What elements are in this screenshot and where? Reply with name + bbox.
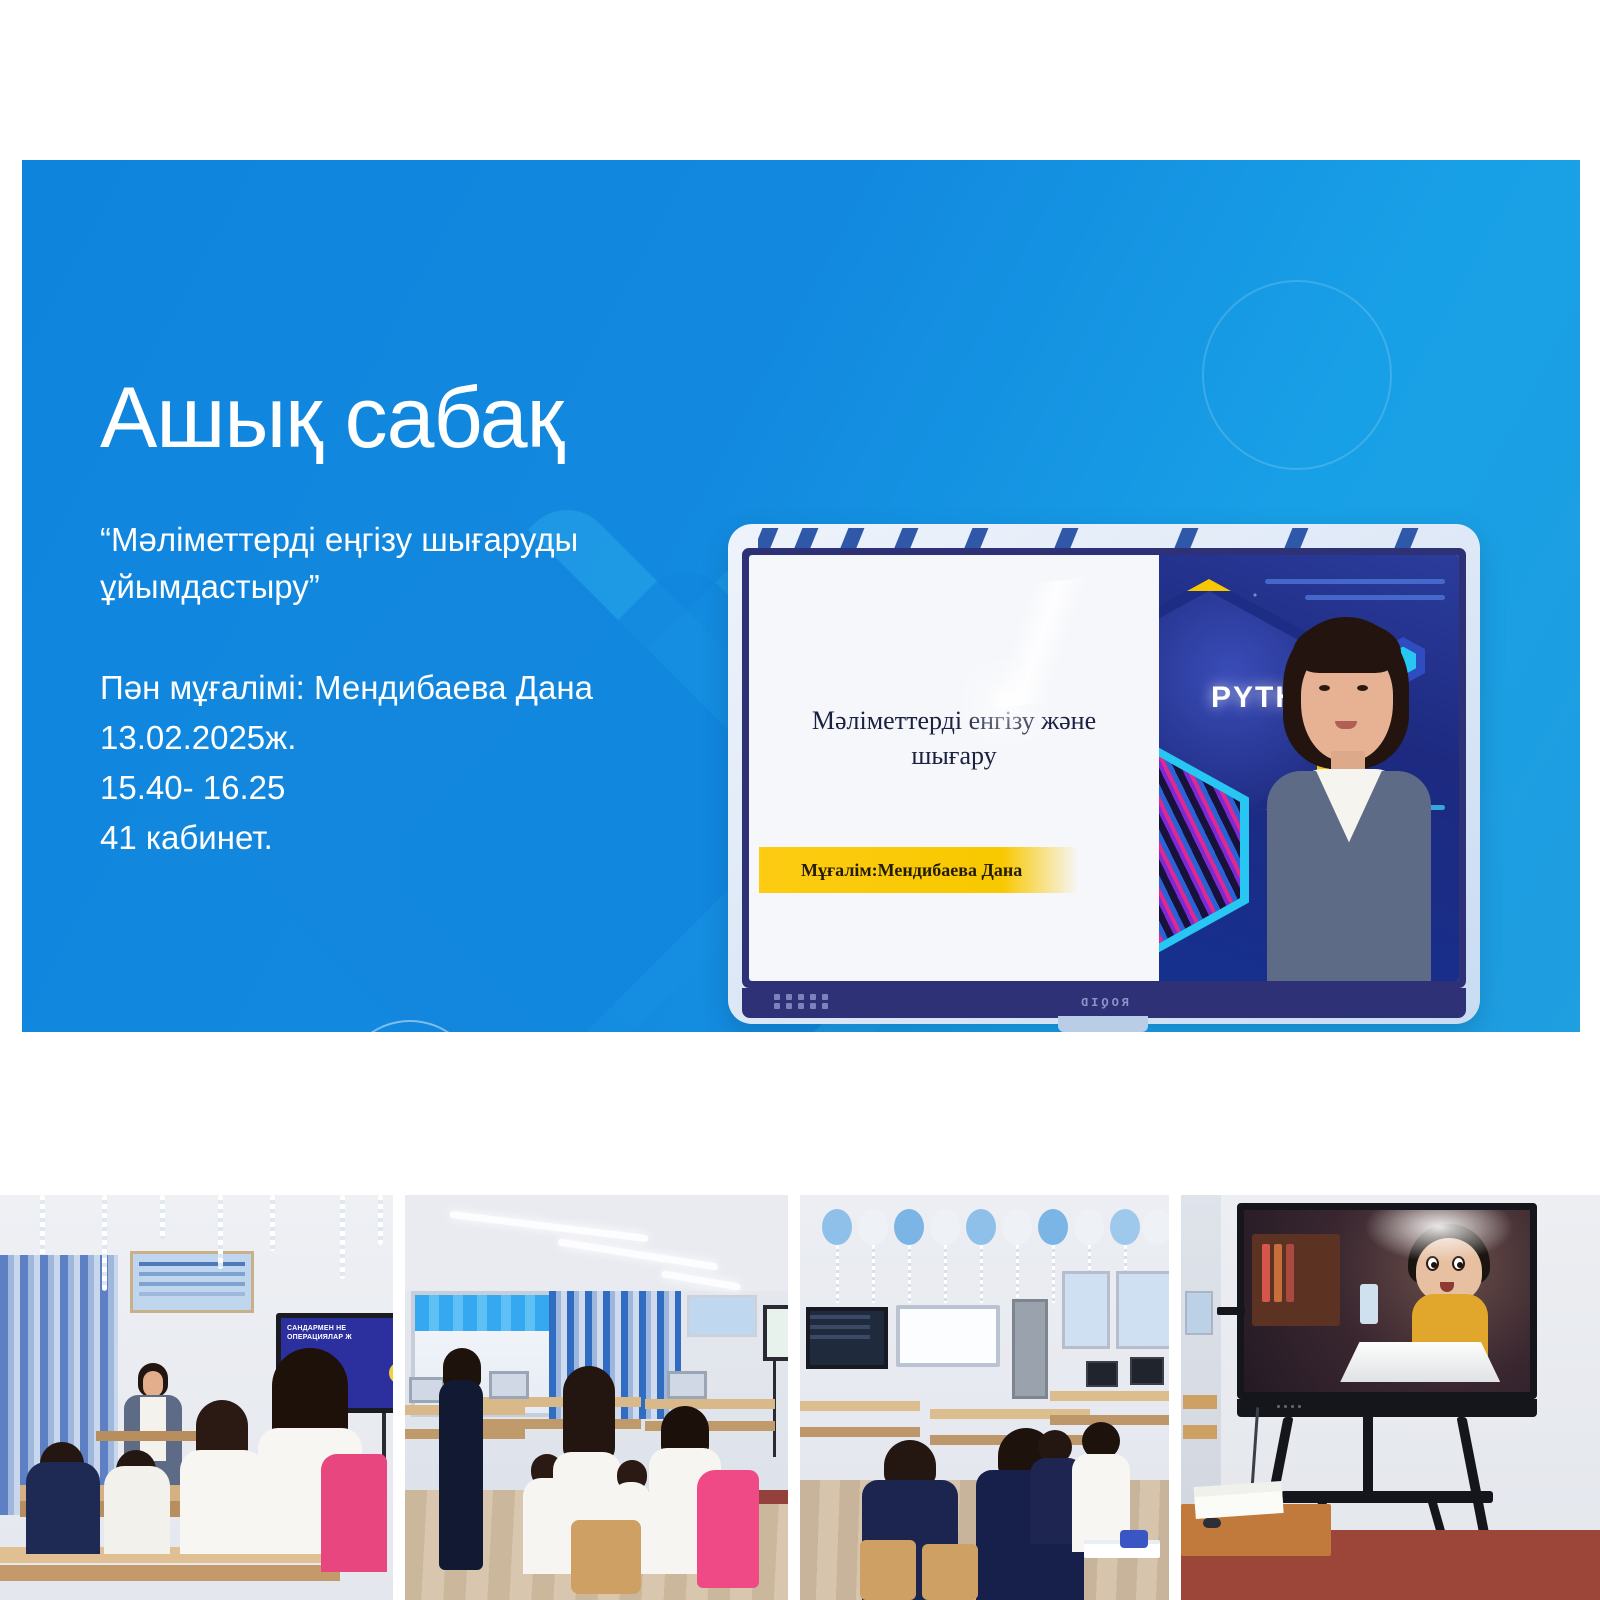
- stripe-decor: [1305, 595, 1445, 600]
- classroom-screen: [763, 1305, 788, 1361]
- wall-poster: [687, 1295, 757, 1337]
- balloon: [1002, 1209, 1032, 1245]
- screen-stand: [773, 1361, 788, 1457]
- lesson-date: 13.02.2025ж.: [100, 713, 700, 763]
- mount-arm: [1217, 1307, 1245, 1315]
- open-book: [1340, 1342, 1500, 1382]
- balloon: [1110, 1209, 1140, 1245]
- screen-content-lines: [810, 1315, 870, 1319]
- teacher-portrait: [1243, 609, 1453, 981]
- student-desk: [1050, 1391, 1169, 1401]
- screen-heading: САНДАРМЕН НЕ ОПЕРАЦИЯЛАР Ж: [287, 1324, 393, 1343]
- book: [1274, 1244, 1282, 1302]
- pink-hoodie: [697, 1470, 759, 1588]
- stand-column: [1363, 1417, 1373, 1491]
- candle: [1360, 1284, 1378, 1324]
- lesson-room: 41 кабинет.: [100, 813, 700, 863]
- computer-monitor: [667, 1371, 707, 1399]
- ceiling-decor-icon: [270, 1195, 275, 1251]
- monitor-top-stripes: [758, 528, 1448, 548]
- monitor-stand: [1058, 1016, 1148, 1032]
- chair: [922, 1544, 978, 1600]
- ceiling: [405, 1195, 788, 1291]
- teacher-line: Пән мұғалімі: Мендибаева Дана: [100, 663, 700, 713]
- ceiling-decor-icon: [378, 1195, 383, 1245]
- student-head: [563, 1366, 615, 1464]
- lesson-meta: Пән мұғалімі: Мендибаева Дана 13.02.2025…: [100, 663, 700, 864]
- student-desk: [930, 1409, 1090, 1419]
- ceiling-decor-icon: [218, 1195, 223, 1269]
- balloon: [822, 1209, 852, 1245]
- monitor-chin: ROQID: [742, 988, 1466, 1018]
- operation-2: АЗ prin: [381, 1388, 393, 1406]
- chair: [860, 1540, 916, 1600]
- stripe-decor: [1265, 579, 1445, 584]
- mouse: [1203, 1518, 1221, 1528]
- stand-tray: [1281, 1491, 1493, 1503]
- ceiling-decor-icon: [102, 1195, 107, 1291]
- balloon: [966, 1209, 996, 1245]
- door: [1012, 1299, 1048, 1399]
- photo-gallery: САНДАРМЕН НЕ ОПЕРАЦИЯЛАР Ж + ҚОСУ print(…: [0, 1195, 1600, 1600]
- balloon: [1142, 1209, 1169, 1245]
- minus-symbol-icon: [389, 1362, 393, 1384]
- student-figure: [180, 1450, 264, 1554]
- ceiling-decor-icon: [340, 1195, 345, 1279]
- display-chin: [1237, 1399, 1537, 1417]
- slide-teacher-ribbon: Мұғалім:Мендибаева Дана: [759, 847, 1079, 893]
- computer-desk: [645, 1399, 775, 1409]
- presentation-monitor: PYTH: [728, 524, 1480, 1024]
- wall-board: [1062, 1271, 1110, 1349]
- balloon: [930, 1209, 960, 1245]
- monitor-buttons[interactable]: [774, 994, 828, 1000]
- gallery-photo-4[interactable]: [1181, 1195, 1600, 1600]
- lesson-time: 15.40- 16.25: [100, 763, 700, 813]
- balloon: [858, 1209, 888, 1245]
- balloon: [894, 1209, 924, 1245]
- computer-monitor: [489, 1371, 529, 1399]
- computer-monitor: [1086, 1361, 1118, 1387]
- gallery-photo-1[interactable]: САНДАРМЕН НЕ ОПЕРАЦИЯЛАР Ж + ҚОСУ print(…: [0, 1195, 393, 1600]
- ceiling-decor-icon: [40, 1195, 45, 1255]
- chair: [571, 1520, 641, 1594]
- balloon: [1038, 1209, 1068, 1245]
- lesson-subtitle: “Мәліметтерді еңгізу шығаруды ұйымдастыр…: [100, 517, 700, 611]
- computer-monitor: [1130, 1357, 1164, 1385]
- monitor-brand-label: ROQID: [1078, 996, 1129, 1010]
- gallery-photo-2[interactable]: [405, 1195, 788, 1600]
- book: [1286, 1244, 1294, 1302]
- slide-decor-panel: PYTH: [1159, 555, 1459, 981]
- page-title: Ашық сабақ: [100, 375, 700, 461]
- balloon: [1074, 1209, 1104, 1245]
- gallery-photo-3[interactable]: [800, 1195, 1169, 1600]
- hero-banner: Ашық сабақ “Мәліметтерді еңгізу шығаруды…: [22, 160, 1580, 1032]
- interactive-display: [1237, 1203, 1537, 1399]
- decorative-circle-icon: [1202, 280, 1392, 470]
- slide-teacher-name: Мұғалім:Мендибаева Дана: [759, 860, 1022, 881]
- display-buttons[interactable]: [1277, 1405, 1301, 1408]
- hero-text-block: Ашық сабақ “Мәліметтерді еңгізу шығаруды…: [100, 375, 700, 863]
- standing-student: [439, 1380, 483, 1570]
- whiteboard: [896, 1305, 1000, 1367]
- screen-flare: [945, 643, 1065, 763]
- monitor-screen: PYTH: [749, 555, 1459, 981]
- pink-jacket: [321, 1454, 387, 1572]
- poster-page: Ашық сабақ “Мәліметтерді еңгізу шығаруды…: [0, 0, 1600, 1600]
- monitor-bezel: PYTH: [742, 548, 1466, 988]
- student-figure: [104, 1466, 170, 1554]
- ceiling-decor-icon: [160, 1195, 165, 1239]
- screen-glare: [1364, 1203, 1514, 1262]
- wall-board: [1116, 1271, 1169, 1349]
- student-desk: [800, 1401, 920, 1411]
- pencil-case: [1120, 1530, 1148, 1548]
- student-figure: [26, 1462, 100, 1554]
- book: [1262, 1244, 1270, 1302]
- wall-poster: [130, 1251, 254, 1313]
